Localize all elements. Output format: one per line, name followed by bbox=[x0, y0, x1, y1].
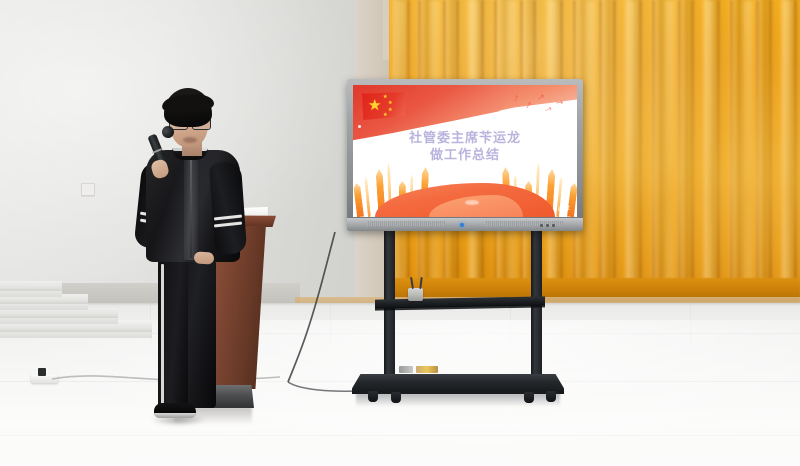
shelf-item-sticker bbox=[416, 366, 438, 373]
caster-front-right bbox=[546, 391, 556, 402]
shelf-item-label bbox=[399, 366, 413, 373]
dove-icon: ↗ bbox=[553, 98, 564, 110]
display-buttons[interactable] bbox=[540, 224, 555, 227]
caster-front-left bbox=[368, 391, 378, 402]
display-cable-path bbox=[288, 232, 335, 382]
flag-star-3: ★ bbox=[388, 108, 392, 113]
wifi-router bbox=[408, 288, 423, 301]
display-button-1[interactable] bbox=[540, 224, 543, 227]
dove-icon: ↗ bbox=[511, 94, 522, 105]
photo-scene: ★ ★ ★ ★ ★ ↗↗↗↗↗ 社管委主席苄运龙 做工作总结 ppt bbox=[0, 0, 800, 466]
stand-base bbox=[352, 374, 564, 394]
jacket-zipper bbox=[190, 158, 192, 258]
chinese-national-flag-icon: ★ ★ ★ ★ ★ bbox=[362, 92, 406, 120]
display-speaker-left bbox=[367, 221, 445, 226]
slide-title-line1: 社管委主席苄运龙 bbox=[353, 130, 577, 147]
dove-icon: ↗ bbox=[524, 101, 533, 111]
smart-display[interactable]: ★ ★ ★ ★ ★ ↗↗↗↗↗ 社管委主席苄运龙 做工作总结 ppt bbox=[347, 79, 583, 231]
caster-rear-left bbox=[391, 392, 401, 403]
dove-icon: ↗ bbox=[537, 94, 545, 104]
slide-ray bbox=[353, 183, 364, 217]
display-screen[interactable]: ★ ★ ★ ★ ★ ↗↗↗↗↗ 社管委主席苄运龙 做工作总结 ppt bbox=[353, 85, 577, 217]
display-button-3[interactable] bbox=[552, 224, 555, 227]
slide-ray bbox=[364, 176, 371, 217]
dove-icon: ↗ bbox=[543, 105, 553, 116]
flag-star-2: ★ bbox=[388, 101, 392, 106]
slide-watermark: ppt bbox=[558, 205, 571, 212]
trouser-stripe bbox=[161, 264, 164, 404]
flag-star-1: ★ bbox=[383, 95, 387, 100]
display-button-2[interactable] bbox=[546, 224, 549, 227]
presenter-shoe-sole bbox=[154, 413, 196, 418]
slide-ribbon-highlight bbox=[465, 200, 479, 205]
dove-flock-icon: ↗↗↗↗↗ bbox=[511, 93, 565, 121]
flag-star-large: ★ bbox=[368, 98, 381, 113]
power-led-icon bbox=[460, 223, 464, 227]
presenter bbox=[128, 88, 258, 418]
presenter-mouth bbox=[183, 137, 197, 143]
flag-star-4: ★ bbox=[383, 113, 387, 118]
presenter-hand-resting bbox=[194, 251, 215, 264]
presentation-slide: ★ ★ ★ ★ ★ ↗↗↗↗↗ 社管委主席苄运龙 做工作总结 ppt bbox=[353, 85, 577, 217]
display-cable-floor bbox=[288, 382, 360, 391]
caster-rear-right bbox=[524, 392, 534, 403]
presenter-arm-right bbox=[209, 161, 247, 255]
slide-accent-dot bbox=[358, 125, 361, 128]
